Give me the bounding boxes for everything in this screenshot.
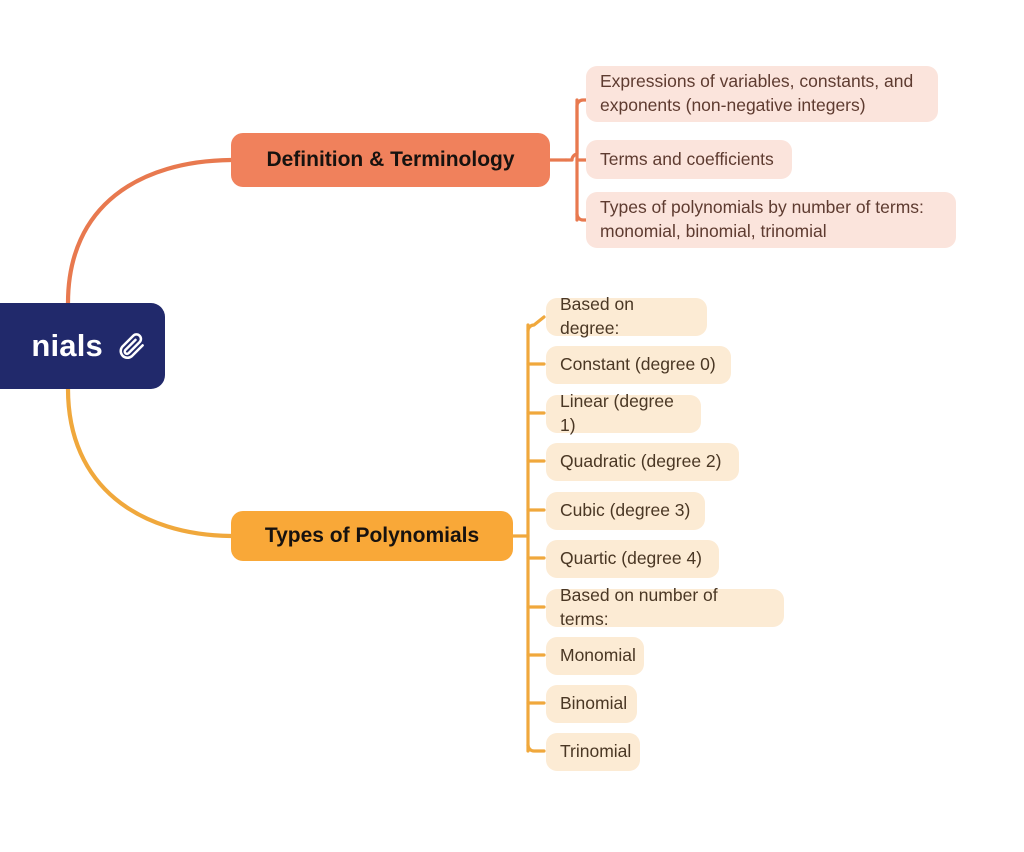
- leaf-node[interactable]: Quadratic (degree 2): [546, 443, 739, 481]
- leaf-node[interactable]: Binomial: [546, 685, 637, 723]
- mindmap-canvas: nials Definition & Terminology Types of …: [0, 0, 1024, 852]
- leaf-node[interactable]: Constant (degree 0): [546, 346, 731, 384]
- leaf-node[interactable]: Quartic (degree 4): [546, 540, 719, 578]
- leaf-node[interactable]: Terms and coefficients: [586, 140, 792, 179]
- leaf-node[interactable]: Types of polynomials by number of terms:…: [586, 192, 956, 248]
- leaf-node[interactable]: Based on number of terms:: [546, 589, 784, 627]
- root-node-label: nials: [31, 328, 103, 364]
- connector-types-elbow-0: [528, 317, 544, 331]
- leaf-node[interactable]: Expressions of variables, constants, and…: [586, 66, 938, 122]
- connector-root-to-types: [68, 389, 231, 536]
- paperclip-icon[interactable]: [117, 331, 147, 361]
- root-node[interactable]: nials: [0, 303, 165, 389]
- leaf-node[interactable]: Trinomial: [546, 733, 640, 771]
- leaf-node[interactable]: Based on degree:: [546, 298, 707, 336]
- connector-root-to-definition: [68, 160, 231, 303]
- leaf-node[interactable]: Linear (degree 1): [546, 395, 701, 433]
- branch-label: Types of Polynomials: [265, 524, 479, 548]
- branch-label: Definition & Terminology: [266, 148, 514, 172]
- connector-types-elbow-9: [528, 745, 544, 751]
- leaf-node[interactable]: Monomial: [546, 637, 644, 675]
- connector-lines: [0, 0, 1024, 852]
- branch-node-definition-terminology[interactable]: Definition & Terminology: [231, 133, 550, 187]
- leaf-node[interactable]: Cubic (degree 3): [546, 492, 705, 530]
- branch-node-types-of-polynomials[interactable]: Types of Polynomials: [231, 511, 513, 561]
